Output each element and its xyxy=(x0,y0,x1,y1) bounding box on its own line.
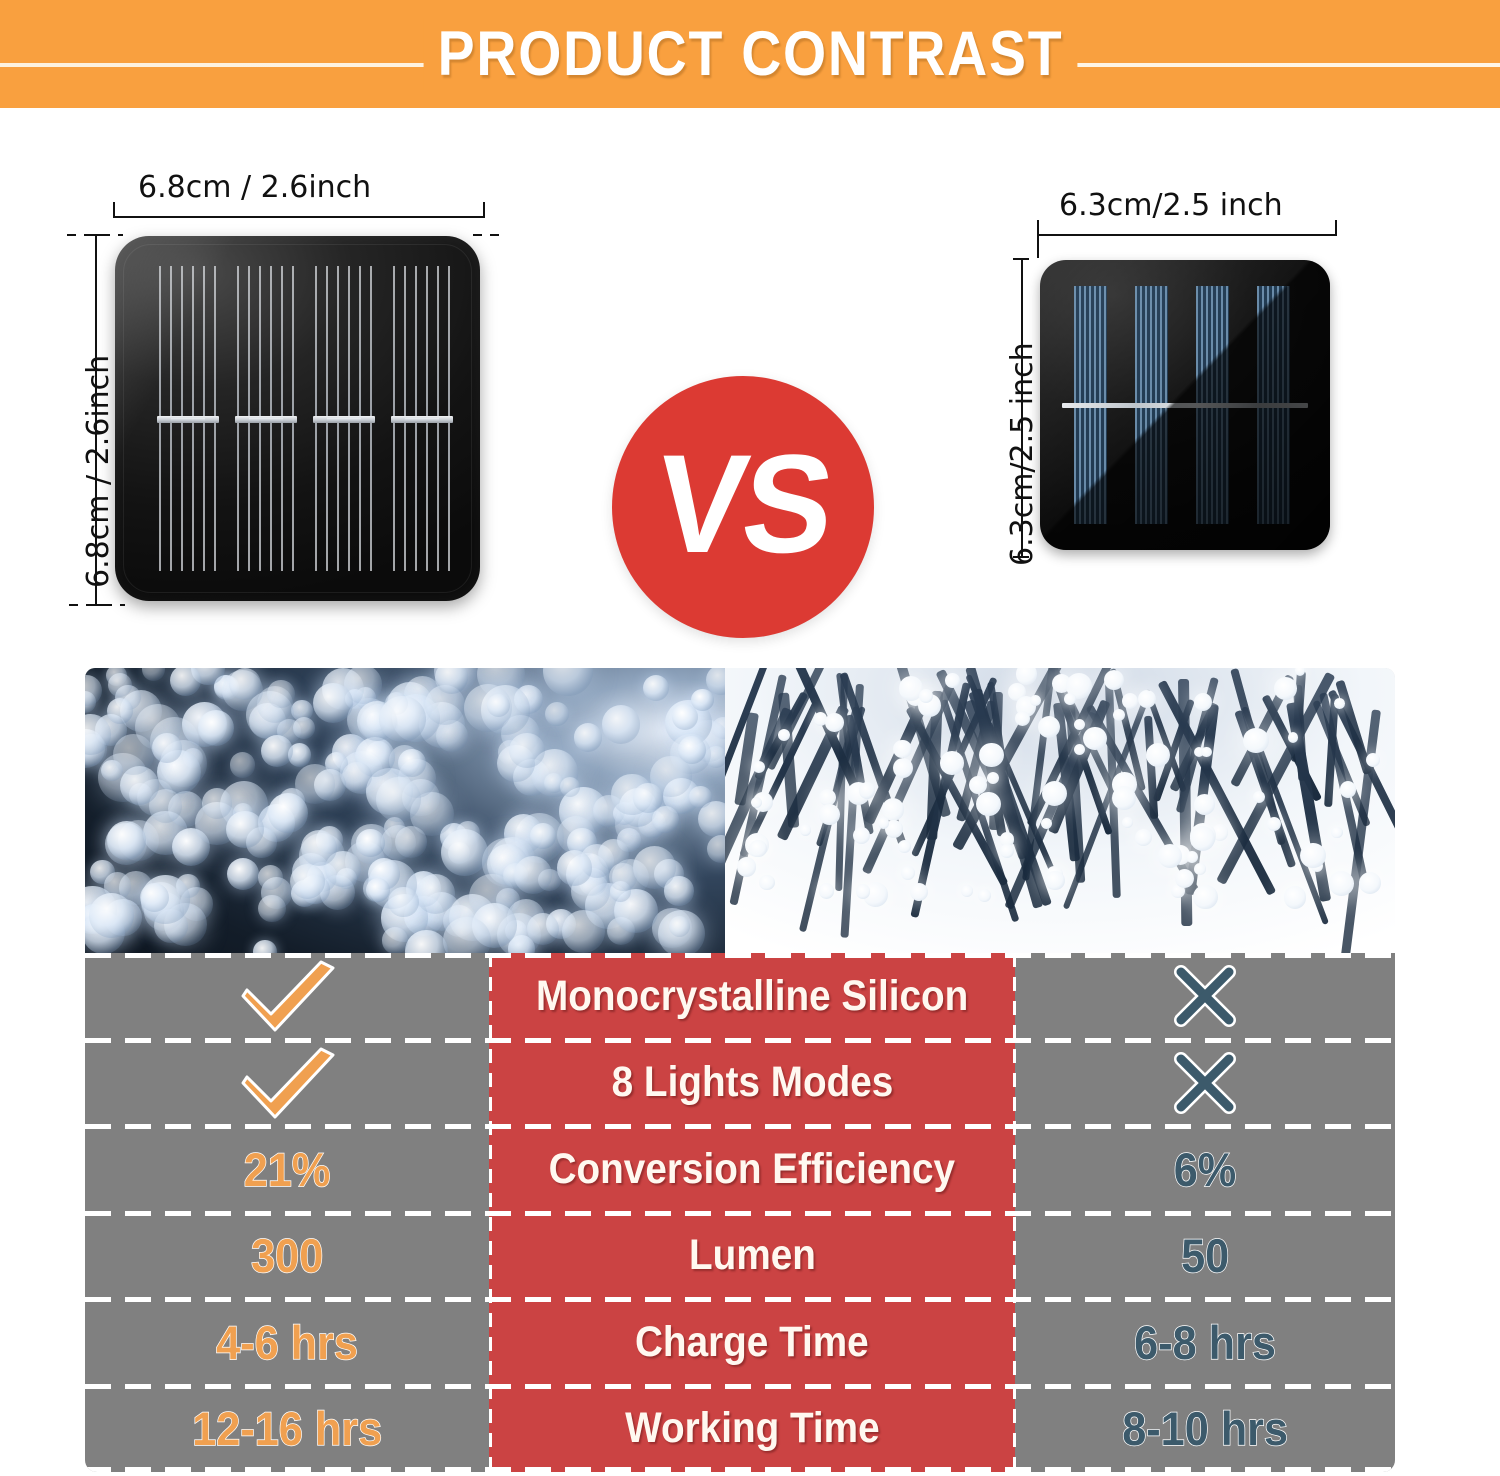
led-bulb xyxy=(1274,677,1297,700)
led-bulb xyxy=(545,702,569,726)
led-bulb xyxy=(853,827,870,844)
led-bulb xyxy=(978,889,991,902)
ours-value: 4-6 hrs xyxy=(216,1315,358,1370)
led-bulb xyxy=(945,673,960,688)
led-bulb xyxy=(152,733,182,763)
ours-cell-group xyxy=(391,266,453,571)
others-value: 6-8 hrs xyxy=(1134,1315,1276,1370)
table-row: 21%Conversion Efficiency6% xyxy=(85,1126,1395,1213)
table-row: 12-16 hrsWorking Time8-10 hrs xyxy=(85,1386,1395,1473)
led-bulb xyxy=(893,740,912,759)
led-bulb xyxy=(1000,844,1014,858)
ours-cell: 12-16 hrs xyxy=(85,1386,489,1473)
led-bulb xyxy=(1359,872,1381,894)
led-bulb xyxy=(293,717,315,739)
others-width-dim-line xyxy=(1037,234,1337,236)
led-bulb xyxy=(1064,693,1076,705)
led-bulb xyxy=(267,680,295,708)
row-separator xyxy=(85,1467,1395,1472)
feature-cell: Working Time xyxy=(489,1386,1015,1473)
ours-width-dim-line xyxy=(113,216,485,218)
led-bulb xyxy=(753,761,765,773)
others-height-dim-line xyxy=(1021,258,1023,558)
led-bulb xyxy=(1186,851,1198,863)
led-bulb xyxy=(1366,753,1380,767)
page-title: PRODUCT CONTRAST xyxy=(423,18,1077,90)
led-bulb xyxy=(198,710,234,746)
led-bulb xyxy=(1334,698,1345,709)
led-bulb xyxy=(1030,695,1041,706)
led-bulb xyxy=(202,788,233,819)
others-cell xyxy=(1015,953,1395,1040)
led-bulb xyxy=(940,751,964,775)
led-bulb xyxy=(301,830,337,866)
ours-height-tick-top xyxy=(87,234,103,236)
led-bulb xyxy=(633,783,663,813)
led-bulb xyxy=(643,675,669,701)
led-bulb xyxy=(530,823,556,849)
led-bulb xyxy=(969,776,987,794)
led-bulb xyxy=(443,917,491,953)
led-bulb xyxy=(382,927,408,953)
led-bulb xyxy=(1329,871,1354,896)
led-bulb xyxy=(514,856,552,894)
led-bulb xyxy=(509,733,544,768)
comparison-table: Monocrystalline Silicon8 Lights Modes21%… xyxy=(85,953,1395,1472)
led-bulb xyxy=(976,792,1000,816)
led-bulb xyxy=(859,782,875,798)
led-bulb xyxy=(342,762,372,792)
ours-height-dim-line xyxy=(95,234,97,606)
feature-cell: Monocrystalline Silicon xyxy=(489,953,1015,1040)
led-bulb xyxy=(230,752,255,777)
led-bulb xyxy=(379,696,426,743)
led-bulb xyxy=(261,735,293,767)
panel-comparison-zone: 6.8cm / 2.6inch 6.8cm / 2.6inch xyxy=(0,108,1500,668)
led-bulb xyxy=(819,804,840,825)
led-bulb xyxy=(1190,826,1216,852)
others-width-label: 6.3cm/2.5 inch xyxy=(1059,188,1283,223)
ours-width-tick-left xyxy=(113,202,115,218)
feature-label: 8 Lights Modes xyxy=(611,1058,893,1107)
ours-height-label: 6.8cm / 2.6inch xyxy=(81,355,116,588)
led-bulb xyxy=(253,940,276,953)
table-row: 8 Lights Modes xyxy=(85,1040,1395,1127)
led-bulb xyxy=(1135,829,1152,846)
led-bulb xyxy=(1284,886,1307,909)
led-bulb xyxy=(107,698,133,724)
others-value: 8-10 hrs xyxy=(1122,1401,1288,1456)
ours-value: 300 xyxy=(251,1228,323,1283)
column-separator-left xyxy=(489,953,492,1472)
led-bulb xyxy=(910,883,928,901)
feature-cell: Lumen xyxy=(489,1213,1015,1300)
feature-cell: 8 Lights Modes xyxy=(489,1040,1015,1127)
led-bulb xyxy=(759,875,774,890)
ours-cell xyxy=(85,1040,489,1127)
led-bulb xyxy=(1194,794,1215,815)
led-bulb xyxy=(229,668,261,700)
led-bulb xyxy=(1340,781,1356,797)
led-bulb xyxy=(487,694,510,717)
others-width-tick-right xyxy=(1335,220,1337,236)
ours-cell-group xyxy=(313,266,375,571)
led-bulb xyxy=(1201,747,1212,758)
row-separator xyxy=(85,1384,1395,1389)
led-bulb xyxy=(1243,728,1269,754)
ours-cell-group xyxy=(235,266,297,571)
led-bulb xyxy=(1038,716,1060,738)
led-bulb xyxy=(1146,743,1170,767)
led-bulb xyxy=(1112,786,1136,810)
led-bulb xyxy=(1288,732,1298,742)
led-bulb xyxy=(1158,844,1182,868)
others-cell xyxy=(1015,1040,1395,1127)
header-banner: PRODUCT CONTRAST xyxy=(0,0,1500,108)
feature-label: Conversion Efficiency xyxy=(549,1145,955,1194)
table-row: 300Lumen50 xyxy=(85,1213,1395,1300)
led-bulb xyxy=(227,858,259,890)
feature-label: Working Time xyxy=(625,1404,879,1453)
others-height-tick-bottom xyxy=(1013,556,1029,558)
ours-cell: 4-6 hrs xyxy=(85,1299,489,1386)
check-icon xyxy=(235,960,339,1032)
vs-label: VS xyxy=(650,434,836,574)
row-separator xyxy=(85,953,1395,958)
led-bulb xyxy=(1122,693,1138,709)
ours-width-guide-top2 xyxy=(473,234,503,236)
ours-height-guide-bottom xyxy=(69,604,125,606)
feature-cell: Conversion Efficiency xyxy=(489,1126,1015,1213)
ours-width-tick-right xyxy=(483,202,485,218)
led-bulb xyxy=(878,817,889,828)
led-bulb xyxy=(395,826,427,858)
led-bulb xyxy=(602,705,641,744)
product-photo-band xyxy=(85,668,1395,953)
others-product-photo xyxy=(725,668,1395,953)
led-bulb xyxy=(819,883,834,898)
ours-panel-group: 6.8cm / 2.6inch 6.8cm / 2.6inch xyxy=(55,168,505,668)
led-bulb xyxy=(1041,818,1052,829)
led-bulb xyxy=(170,668,201,696)
led-bulb xyxy=(961,885,973,897)
led-bulb xyxy=(737,857,756,876)
others-height-tick-top xyxy=(1013,258,1029,260)
led-bulb xyxy=(226,811,264,849)
led-bulb xyxy=(527,913,559,945)
led-bulb xyxy=(1074,719,1085,730)
others-cell: 8-10 hrs xyxy=(1015,1386,1395,1473)
cross-icon xyxy=(1169,960,1241,1032)
led-bulb xyxy=(691,689,713,711)
ours-solar-panel-image xyxy=(115,236,480,601)
led-bulb xyxy=(1045,871,1064,890)
ours-value: 12-16 hrs xyxy=(192,1401,382,1456)
led-bulb xyxy=(574,723,602,751)
led-bulb xyxy=(543,668,593,696)
others-cell: 50 xyxy=(1015,1213,1395,1300)
others-cell: 6-8 hrs xyxy=(1015,1299,1395,1386)
others-solar-panel-image xyxy=(1040,260,1330,550)
row-separator xyxy=(85,1211,1395,1216)
table-row: Monocrystalline Silicon xyxy=(85,953,1395,1040)
led-bulb xyxy=(1074,744,1085,755)
led-bulb xyxy=(633,846,676,889)
led-bulb xyxy=(1083,727,1106,750)
led-bulb xyxy=(898,840,911,853)
ours-cell: 300 xyxy=(85,1213,489,1300)
led-bulb xyxy=(1122,817,1133,828)
row-separator xyxy=(85,1297,1395,1302)
led-bulb xyxy=(258,895,286,923)
ours-product-photo xyxy=(85,668,725,953)
column-separator-right xyxy=(1013,953,1016,1472)
led-bulb xyxy=(441,829,488,876)
led-bulb xyxy=(1300,843,1326,869)
led-bulb xyxy=(707,835,725,863)
ours-width-label: 6.8cm / 2.6inch xyxy=(138,170,371,205)
others-value: 6% xyxy=(1174,1142,1237,1197)
ours-cell-group xyxy=(157,266,219,571)
ours-cell-grid xyxy=(139,266,456,571)
others-width-drop-left xyxy=(1037,234,1039,258)
feature-cell: Charge Time xyxy=(489,1299,1015,1386)
led-bulb xyxy=(416,874,455,913)
others-panel-group: 6.3cm/2.5 inch 6.3cm/2.5 inch xyxy=(985,168,1385,668)
ours-cell: 21% xyxy=(85,1126,489,1213)
led-bulb xyxy=(1331,827,1343,839)
led-bulb xyxy=(901,866,915,880)
led-bulb xyxy=(562,910,605,953)
led-bulb xyxy=(1015,711,1030,726)
led-bulb xyxy=(1104,670,1124,690)
led-bulb xyxy=(1193,885,1218,910)
check-icon xyxy=(235,1047,339,1119)
row-separator xyxy=(85,1124,1395,1129)
feature-label: Charge Time xyxy=(635,1318,869,1367)
feature-label: Lumen xyxy=(689,1231,816,1280)
led-bulb xyxy=(800,824,811,835)
vs-badge: VS xyxy=(612,376,874,638)
row-separator xyxy=(85,1038,1395,1043)
led-bulb xyxy=(1194,863,1206,875)
led-bulb xyxy=(557,850,592,885)
led-bulb xyxy=(142,668,165,681)
led-bulb xyxy=(825,713,843,731)
ours-value: 21% xyxy=(244,1142,331,1197)
led-bulb xyxy=(398,749,425,776)
led-bulb xyxy=(376,777,421,822)
others-value: 50 xyxy=(1181,1228,1229,1283)
cross-icon xyxy=(1169,1047,1241,1119)
ours-cell xyxy=(85,953,489,1040)
led-bulb xyxy=(749,840,766,857)
led-bulb xyxy=(140,883,169,912)
led-bulb xyxy=(85,675,102,706)
table-row: 4-6 hrsCharge Time6-8 hrs xyxy=(85,1299,1395,1386)
led-bulb xyxy=(979,743,1003,767)
feature-label: Monocrystalline Silicon xyxy=(536,972,968,1021)
others-diagonal-shadow xyxy=(1040,260,1330,550)
led-bulb xyxy=(689,786,711,808)
led-bulb xyxy=(113,734,154,775)
others-cell: 6% xyxy=(1015,1126,1395,1213)
